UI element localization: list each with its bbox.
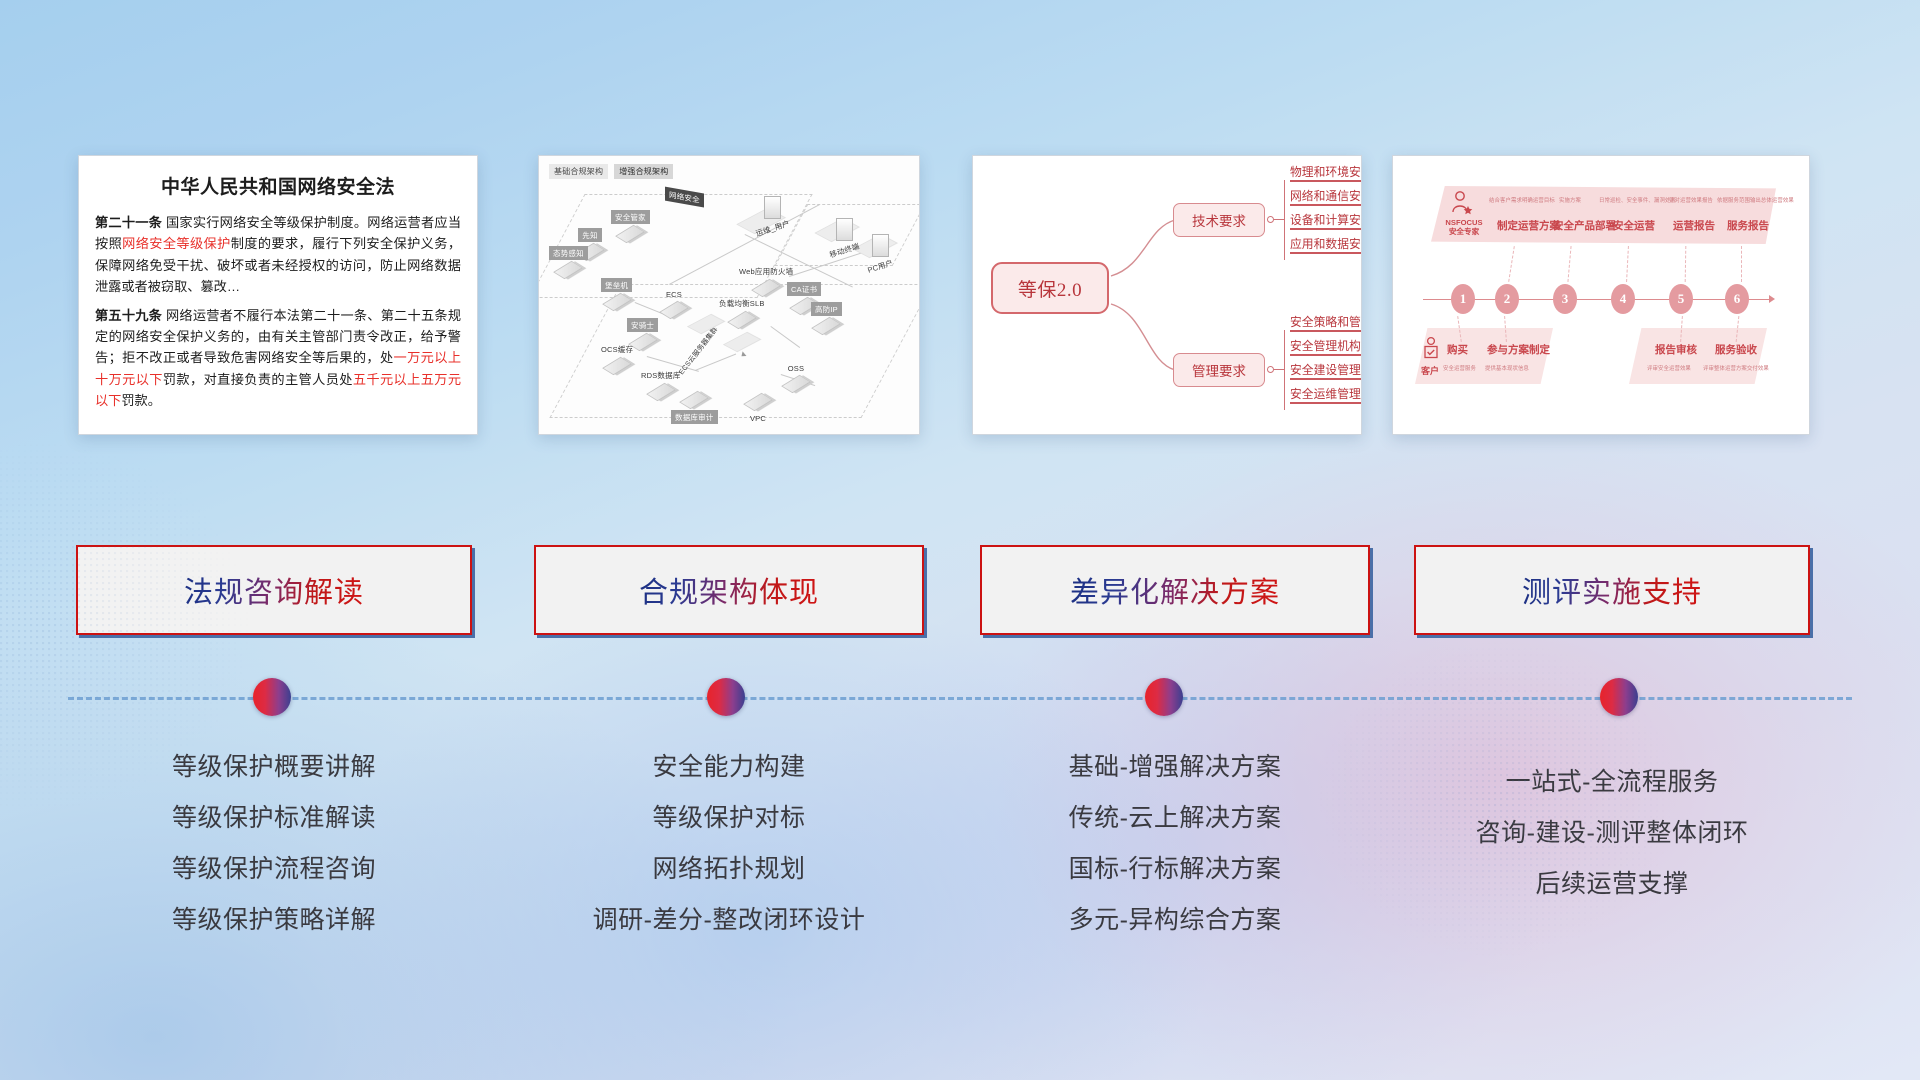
- list-item: 等级保护概要讲解: [76, 742, 472, 793]
- mindmap-leaf-underline: [1290, 228, 1362, 230]
- nsfocus-lower-sub-6: 评审整体运营方案交付效果: [1703, 364, 1769, 372]
- timeline-dot-1: [253, 678, 291, 716]
- arch-tab-basic[interactable]: 基础合规架构: [549, 164, 608, 179]
- slide-canvas: 中华人民共和国网络安全法 第二十一条 国家实行网络安全等级保护制度。网络运营者应…: [0, 0, 1920, 1080]
- title-text: 测评实施支持: [1522, 569, 1702, 611]
- cube-icon: [679, 391, 709, 409]
- arch-node-label: 态势感知: [549, 246, 588, 260]
- nsfocus-upper-title-5: 服务报告: [1727, 218, 1769, 233]
- arch-node-label: 安骑士: [627, 318, 658, 332]
- cube-icon: [812, 317, 842, 335]
- mindmap: 等保2.0 技术要求 物理和环境安全 网络和通信安全 设备和计算安全 应用和数据…: [973, 156, 1361, 434]
- list-item: 等级保护策略详解: [76, 895, 472, 946]
- arch-node-ecs-cluster: ECS云服务器集群: [665, 344, 731, 357]
- law-paragraph-59: 第五十九条 网络运营者不履行本法第二十一条、第二十五条规定的网络安全保护义务的，…: [95, 305, 461, 412]
- nsfocus-upper-sub-3: 日常巡检、安全事件、漏洞处置: [1599, 196, 1676, 204]
- cube-icon: [659, 301, 689, 319]
- server-icon: [836, 218, 853, 241]
- arch-node-ecs: ECS: [661, 288, 687, 318]
- cube-icon: [554, 261, 584, 279]
- nsfocus-upper-sub-5: 依据服务范围输出总体运营效果: [1717, 196, 1794, 204]
- arch-node-label: PC用户: [862, 254, 899, 278]
- nsfocus-brand-name: NSFOCUS: [1435, 218, 1493, 227]
- law-article-number-59: 第五十九条: [95, 308, 162, 323]
- nsfocus-lower-title-5: 报告审核: [1655, 342, 1697, 357]
- mindmap-collapse-dot-technical[interactable]: [1267, 216, 1274, 223]
- cube-icon: [602, 357, 632, 375]
- mindmap-spine-management: [1284, 330, 1285, 410]
- mindmap-leaf-underline: [1290, 402, 1362, 404]
- mindmap-branch-technical: 技术要求: [1173, 203, 1265, 237]
- arch-node-label: 堡垒机: [601, 278, 632, 292]
- timeline-dashed-line: [68, 697, 1852, 700]
- nsfocus-lower-sub-1: 安全运营服务: [1443, 364, 1476, 372]
- nsfocus-tick-6: [1741, 246, 1742, 282]
- mindmap-leaf-underline: [1290, 180, 1362, 182]
- arch-node-label: Web应用防火墙: [735, 264, 797, 278]
- list-item: 等级保护标准解读: [76, 793, 472, 844]
- cube-icon: [743, 393, 773, 411]
- mindmap-leaf-underline: [1290, 378, 1362, 380]
- customer-checklist-icon: [1421, 336, 1441, 362]
- law-article-number-21: 第二十一条: [95, 215, 162, 230]
- list-item: 传统-云上解决方案: [980, 793, 1370, 844]
- arch-node-security-butler: 安全管家: [611, 210, 650, 242]
- nsfocus-upper-title-4: 运营报告: [1673, 218, 1715, 233]
- arch-node-label: 高防IP: [811, 302, 842, 316]
- mindmap-leaf-underline: [1290, 204, 1362, 206]
- list-differentiated-solution: 基础-增强解决方案 传统-云上解决方案 国标-行标解决方案 多元-异构综合方案: [980, 742, 1370, 946]
- arch-node-db-audit: 数据库审计: [671, 390, 718, 424]
- nsfocus-brand: NSFOCUS 安全专家: [1435, 218, 1493, 236]
- list-item: 咨询-建设-测评整体闭环: [1414, 808, 1810, 859]
- nsfocus-node-4[interactable]: 4: [1611, 284, 1635, 314]
- list-item: 后续运营支撑: [1414, 859, 1810, 910]
- arch-node-label: 安全管家: [611, 210, 650, 224]
- law-text-wrapper: 中华人民共和国网络安全法 第二十一条 国家实行网络安全等级保护制度。网络运营者应…: [79, 156, 477, 428]
- mindmap-leaf-underline: [1290, 354, 1362, 356]
- arch-node-label: 负载均衡SLB: [715, 296, 769, 310]
- title-box-assessment-support[interactable]: 测评实施支持: [1414, 545, 1810, 635]
- mindmap-leaf-underline: [1290, 330, 1362, 332]
- law-seg-21-1-highlight: 网络安全等级保护: [122, 236, 231, 251]
- list-item: 网络拓扑规划: [534, 844, 924, 895]
- mindmap-leaf-underline: [1290, 252, 1362, 254]
- list-item: 一站式-全流程服务: [1414, 757, 1810, 808]
- arch-node-mobile-terminal: 移动终端: [825, 216, 864, 257]
- nsfocus-axis: [1423, 299, 1771, 300]
- law-paragraph-21: 第二十一条 国家实行网络安全等级保护制度。网络运营者应当按照网络安全等级保护制度…: [95, 212, 461, 298]
- list-item: 国标-行标解决方案: [980, 844, 1370, 895]
- list-compliance-architecture: 安全能力构建 等级保护对标 网络拓扑规划 调研-差分-整改闭环设计: [534, 742, 924, 946]
- arch-node-ops-user: 运维_用户: [751, 194, 794, 235]
- nsfocus-upper-sub-4: 针对运营效果报告: [1669, 196, 1713, 204]
- title-box-compliance-architecture[interactable]: 合规架构体现: [534, 545, 924, 635]
- timeline-dot-2: [707, 678, 745, 716]
- mindmap-collapse-dot-management[interactable]: [1267, 366, 1274, 373]
- server-icon: [764, 196, 781, 219]
- card-cloud-architecture: 基础合规架构 增强合规架构 网络安全: [538, 155, 920, 435]
- arch-node-oss: OSS: [783, 362, 809, 392]
- arch-node-vpc: VPC: [745, 392, 771, 424]
- architecture-tabs: 基础合规架构 增强合规架构: [549, 164, 673, 179]
- nsfocus-customer-label: 客户: [1421, 364, 1439, 377]
- arch-node-network-security: 网络安全: [665, 190, 704, 204]
- law-seg-59-2: 罚款，对直接负责的主管人员处: [163, 372, 353, 387]
- nsfocus-node-1[interactable]: 1: [1451, 284, 1475, 314]
- timeline-dot-3: [1145, 678, 1183, 716]
- nsfocus-tick-5: [1685, 246, 1687, 282]
- nsfocus-lower-title-2: 参与方案制定: [1487, 342, 1550, 357]
- arch-tab-enhanced[interactable]: 增强合规架构: [614, 164, 673, 179]
- list-item: 基础-增强解决方案: [980, 742, 1370, 793]
- title-text: 差异化解决方案: [1070, 569, 1280, 611]
- arch-node-anti-ddos-ip: 高防IP: [811, 302, 842, 334]
- cube-icon: [602, 293, 632, 311]
- nsfocus-timeline: NSFOCUS 安全专家 结合客户需求明确运营目标 制定运营方案 实施方案 安全…: [1393, 156, 1809, 434]
- nsfocus-tick-2: [1508, 246, 1515, 282]
- card-cybersecurity-law: 中华人民共和国网络安全法 第二十一条 国家实行网络安全等级保护制度。网络运营者应…: [78, 155, 478, 435]
- nsfocus-lower-title-1: 购买: [1447, 342, 1468, 357]
- nsfocus-node-2[interactable]: 2: [1495, 284, 1519, 314]
- title-text: 合规架构体现: [639, 569, 819, 611]
- arch-node-bastion-host: 堡垒机: [601, 278, 632, 310]
- nsfocus-lower-title-6: 服务验收: [1715, 342, 1757, 357]
- nsfocus-upper-title-2: 安全产品部署: [1553, 218, 1616, 233]
- nsfocus-tick-4: [1626, 246, 1629, 282]
- list-regulation-consulting: 等级保护概要讲解 等级保护标准解读 等级保护流程咨询 等级保护策略详解: [76, 742, 472, 946]
- law-seg-59-4: 罚款。: [121, 393, 161, 408]
- cube-icon: [727, 311, 757, 329]
- arch-node-slb: 负载均衡SLB: [715, 296, 769, 328]
- arch-node-label: ECS: [662, 288, 686, 300]
- list-item: 安全能力构建: [534, 742, 924, 793]
- mindmap-hook-management: [1274, 369, 1284, 370]
- nsfocus-lower-sub-5: 评审安全运营效果: [1647, 364, 1691, 372]
- arch-node-label: OCS缓存: [597, 342, 637, 356]
- nsfocus-tick-3: [1567, 246, 1571, 282]
- mindmap-hook-technical: [1274, 219, 1284, 220]
- nsfocus-upper-sub-1: 结合客户需求明确运营目标: [1489, 196, 1555, 204]
- arch-node-label: VPC: [746, 412, 770, 424]
- nsfocus-node-3[interactable]: 3: [1553, 284, 1577, 314]
- list-item: 等级保护对标: [534, 793, 924, 844]
- arch-node-label: 先知: [578, 228, 601, 242]
- server-icon: [872, 234, 889, 257]
- list-item: 调研-差分-整改闭环设计: [534, 895, 924, 946]
- arch-node-label: OSS: [784, 362, 808, 374]
- nsfocus-node-5[interactable]: 5: [1669, 284, 1693, 314]
- arch-node-ocs-cache: OCS缓存: [597, 342, 637, 374]
- nsfocus-axis-arrow-icon: [1769, 295, 1775, 303]
- cube-icon: [781, 375, 811, 393]
- expert-person-icon: [1449, 190, 1475, 216]
- title-box-regulation-consulting[interactable]: 法规咨询解读: [76, 545, 472, 635]
- list-item: 等级保护流程咨询: [76, 844, 472, 895]
- title-text: 法规咨询解读: [184, 569, 364, 611]
- mindmap-spine-technical: [1284, 180, 1285, 260]
- mindmap-branch-management: 管理要求: [1173, 353, 1265, 387]
- card-mindmap-dengbao: 等保2.0 技术要求 物理和环境安全 网络和通信安全 设备和计算安全 应用和数据…: [972, 155, 1362, 435]
- law-title: 中华人民共和国网络安全法: [95, 172, 461, 199]
- nsfocus-upper-title-3: 安全运营: [1613, 218, 1655, 233]
- architecture-diagram: 基础合规架构 增强合规架构 网络安全: [539, 156, 919, 434]
- arch-node-label: CA证书: [787, 282, 821, 296]
- arch-node-pc-user: PC用户: [863, 232, 897, 273]
- card-nsfocus-timeline: NSFOCUS 安全专家 结合客户需求明确运营目标 制定运营方案 实施方案 安全…: [1392, 155, 1810, 435]
- nsfocus-upper-title-1: 制定运营方案: [1497, 218, 1560, 233]
- nsfocus-upper-sub-2: 实施方案: [1559, 196, 1581, 204]
- nsfocus-lower-sub-2: 提供基本现状信息: [1485, 364, 1529, 372]
- timeline-dot-4: [1600, 678, 1638, 716]
- cube-icon: [751, 279, 781, 297]
- cube-icon: [616, 225, 646, 243]
- title-box-differentiated-solution[interactable]: 差异化解决方案: [980, 545, 1370, 635]
- list-item: 多元-异构综合方案: [980, 895, 1370, 946]
- nsfocus-brand-sub: 安全专家: [1435, 227, 1493, 236]
- arch-node-label: 数据库审计: [671, 410, 718, 424]
- list-assessment-support: 一站式-全流程服务 咨询-建设-测评整体闭环 后续运营支撑: [1414, 757, 1810, 910]
- nsfocus-node-6[interactable]: 6: [1725, 284, 1749, 314]
- arch-node-situational-awareness: 态势感知: [549, 246, 588, 278]
